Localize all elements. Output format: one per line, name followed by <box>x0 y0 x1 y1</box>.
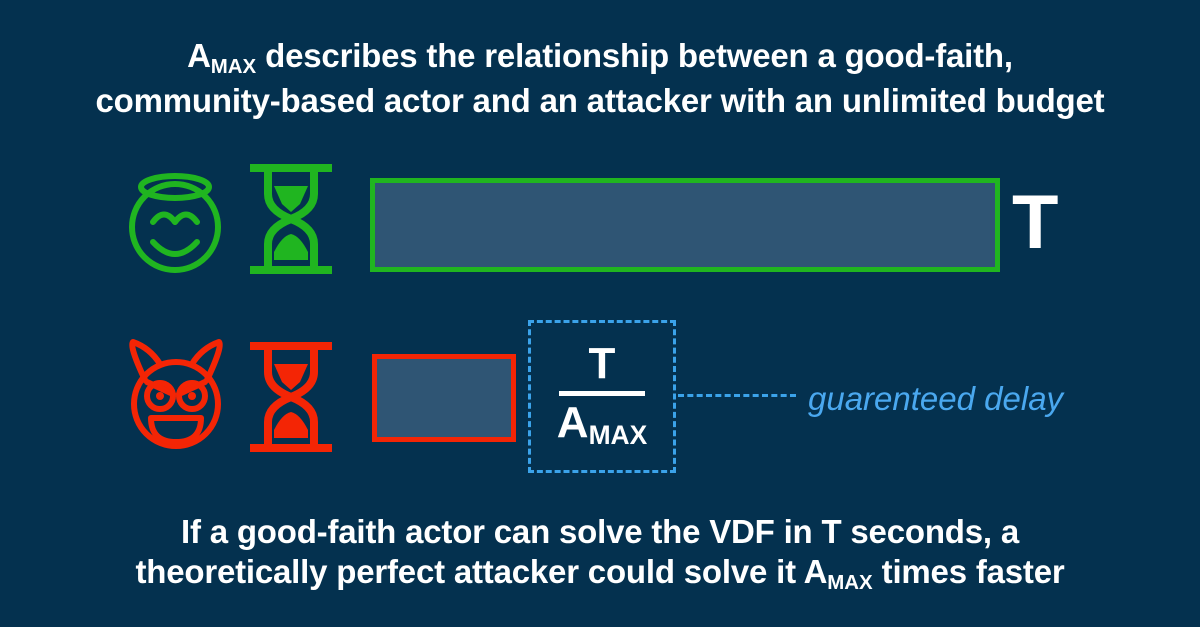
annotation-label-guaranteed-delay: guarenteed delay <box>808 380 1063 418</box>
amax-symbol-subscript: MAX <box>211 55 256 78</box>
page-caption: If a good-faith actor can solve the VDF … <box>0 512 1200 597</box>
heading-top-line-1-rest: describes the relationship between a goo… <box>256 37 1013 74</box>
annotation-connector-line <box>678 394 796 397</box>
hourglass-icon <box>248 338 334 461</box>
page-title: AMAX describes the relationship between … <box>0 36 1200 121</box>
fraction-denominator-base: A <box>557 398 589 447</box>
amax-symbol-base: A <box>187 37 211 74</box>
devil-face-icon <box>120 338 232 465</box>
fraction-denominator-subscript: MAX <box>589 420 648 450</box>
fraction-divider <box>559 391 645 396</box>
heading-bottom-line-1: If a good-faith actor can solve the VDF … <box>0 512 1200 552</box>
fraction-numerator: T <box>589 340 616 388</box>
good-faith-duration-bar <box>370 178 1000 272</box>
angel-face-icon <box>120 160 230 285</box>
amax-symbol-subscript: MAX <box>827 571 872 594</box>
heading-top-line-1: AMAX describes the relationship between … <box>0 36 1200 81</box>
attacker-duration-bar <box>372 354 516 442</box>
diagram-canvas: AMAX describes the relationship between … <box>0 0 1200 627</box>
heading-bottom-line-2: theoretically perfect attacker could sol… <box>0 552 1200 597</box>
bar-label-t: T <box>1012 183 1058 263</box>
heading-top-line-2: community-based actor and an attacker wi… <box>0 81 1200 121</box>
heading-bottom-line-2-prefix: theoretically perfect attacker could sol… <box>135 553 827 590</box>
fraction-box: T AMAX <box>528 320 676 473</box>
fraction-denominator: AMAX <box>557 398 647 453</box>
heading-bottom-line-2-rest: times faster <box>873 553 1065 590</box>
hourglass-icon <box>248 160 334 283</box>
